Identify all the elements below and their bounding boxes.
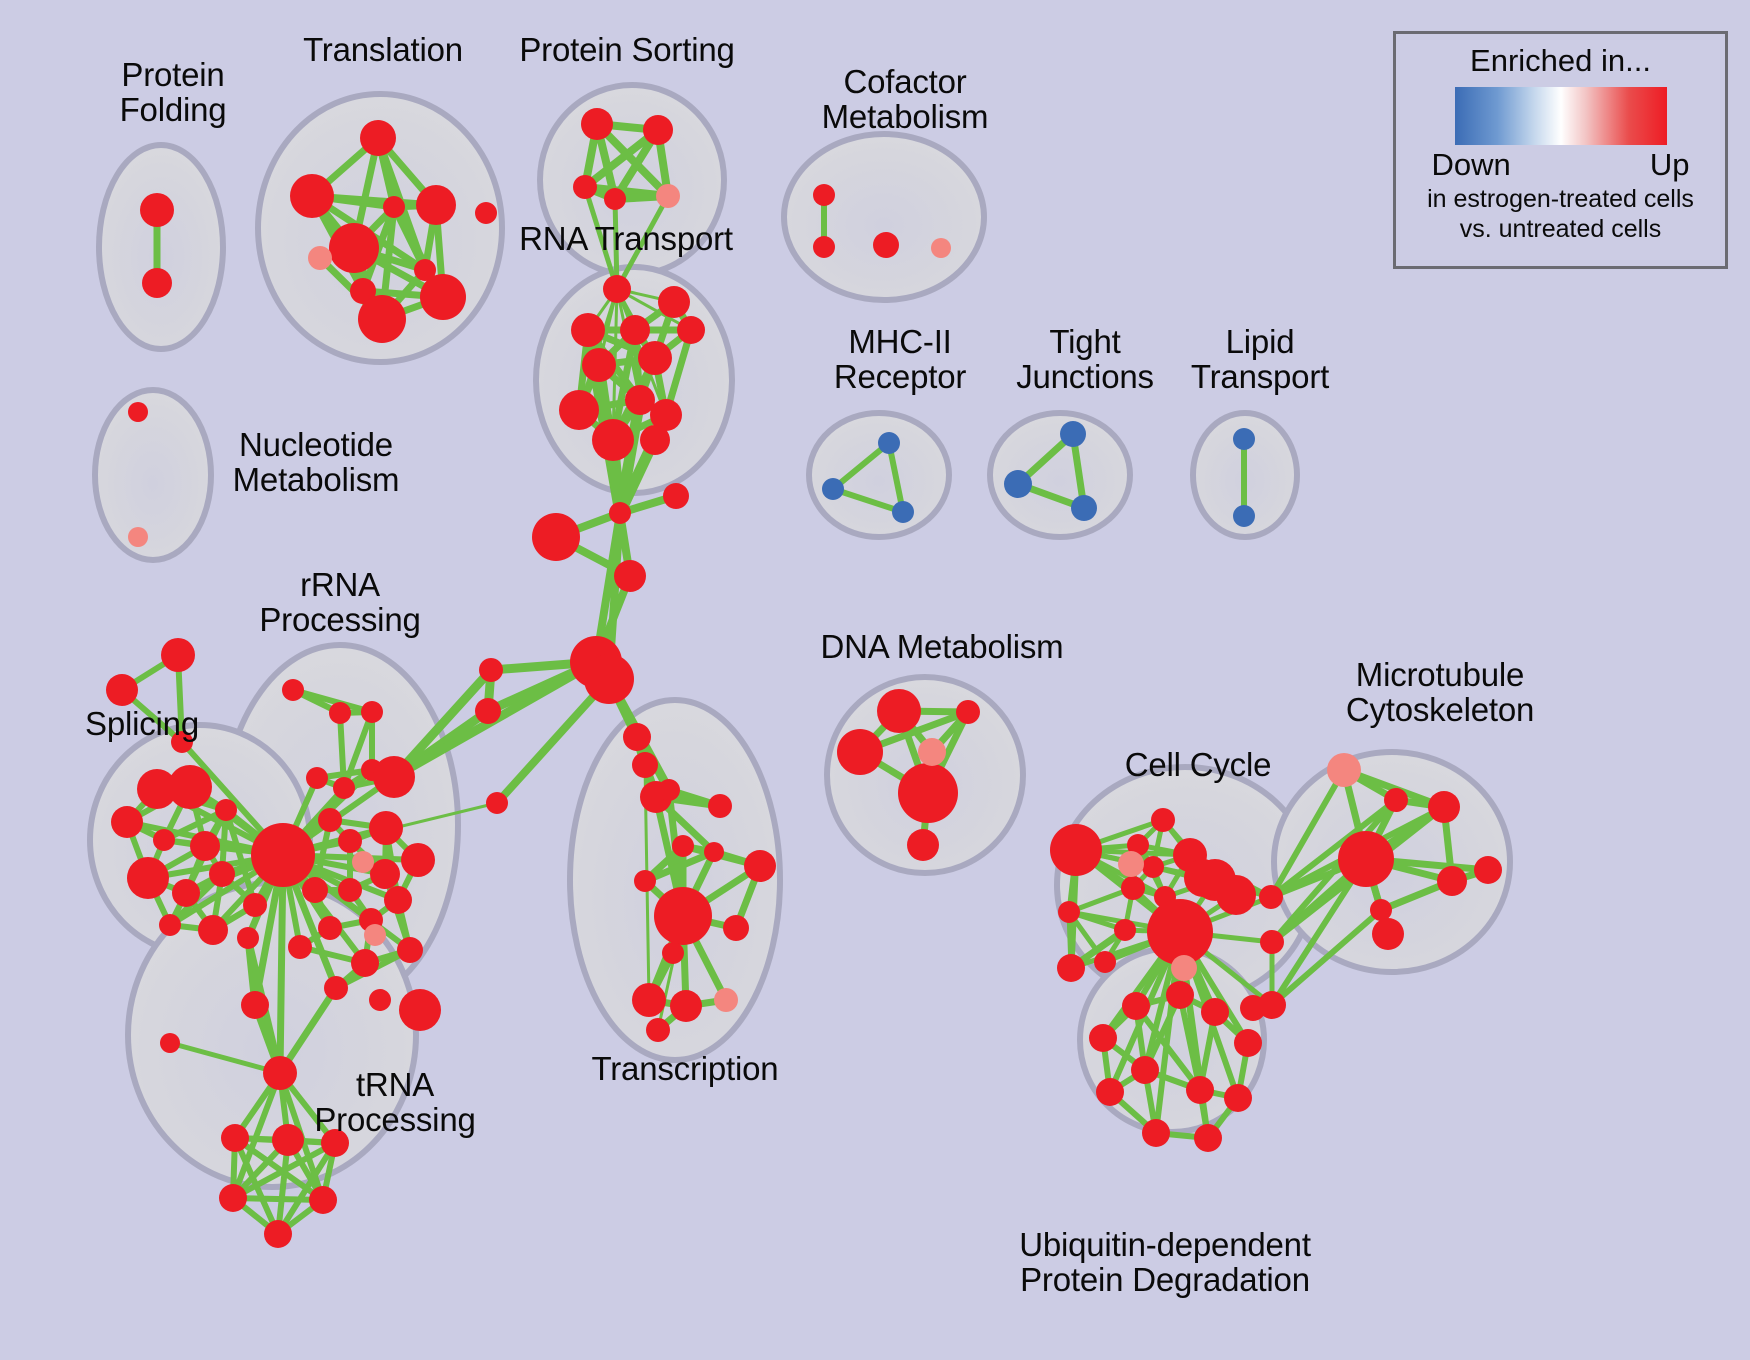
hull-cofactor-metabolism [784, 134, 984, 300]
hull-nucleotide-metabolism [95, 390, 211, 560]
hull-mhc-ii-receptor [809, 413, 949, 537]
cluster-hulls [90, 85, 1510, 1187]
legend-title: Enriched in... [1470, 43, 1651, 79]
network-figure: .hull{fill:url(#cg);stroke:#a9a9c0;strok… [0, 0, 1750, 1360]
legend-label-up: Up [1650, 147, 1690, 183]
legend-panel: Enriched in... Down Up in estrogen-treat… [1393, 31, 1728, 269]
legend-subtitle-line1: in estrogen-treated cells [1427, 185, 1694, 213]
hull-protein-folding [99, 145, 223, 349]
legend-label-down: Down [1432, 147, 1511, 183]
legend-subtitle-line2: vs. untreated cells [1460, 215, 1662, 243]
legend-color-gradient-bar [1455, 87, 1667, 145]
hull-protein-sorting [540, 85, 724, 275]
